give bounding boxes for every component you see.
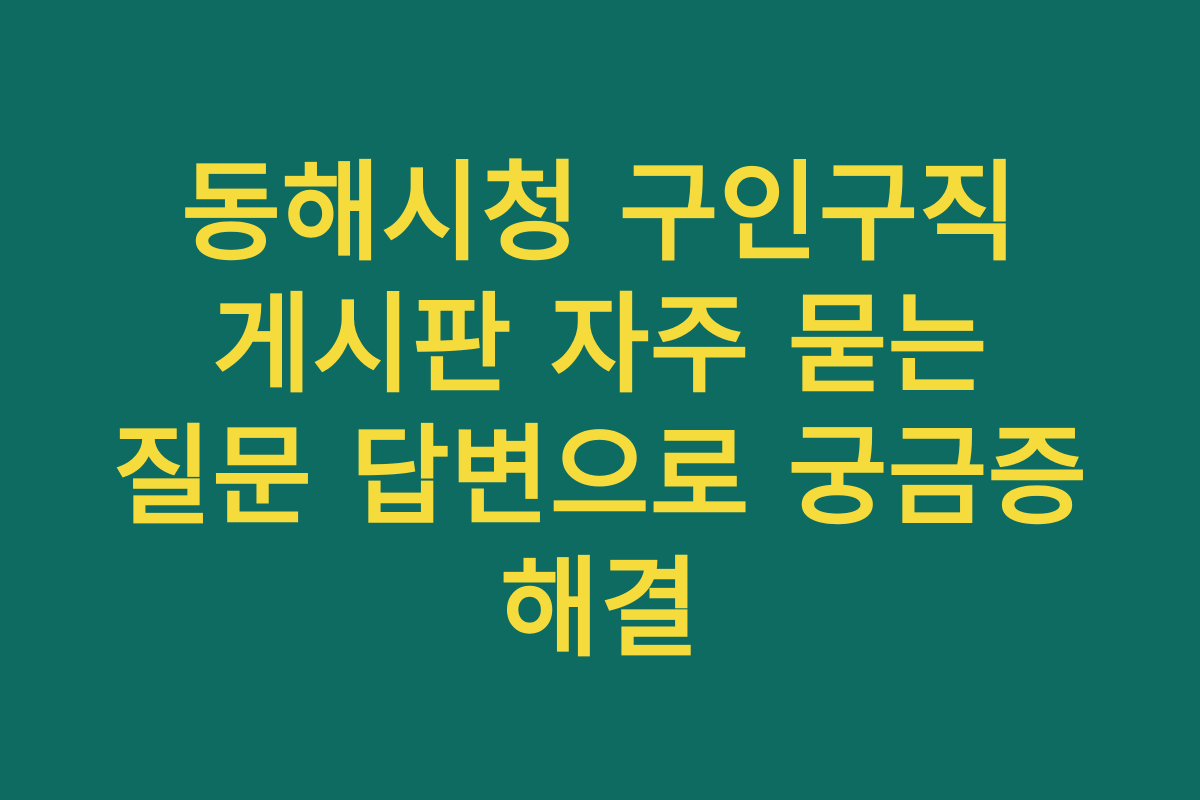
banner-canvas: 동해시청 구인구직 게시판 자주 묻는 질문 답변으로 궁금증 해결 <box>0 0 1200 800</box>
banner-headline: 동해시청 구인구직 게시판 자주 묻는 질문 답변으로 궁금증 해결 <box>100 148 1100 676</box>
